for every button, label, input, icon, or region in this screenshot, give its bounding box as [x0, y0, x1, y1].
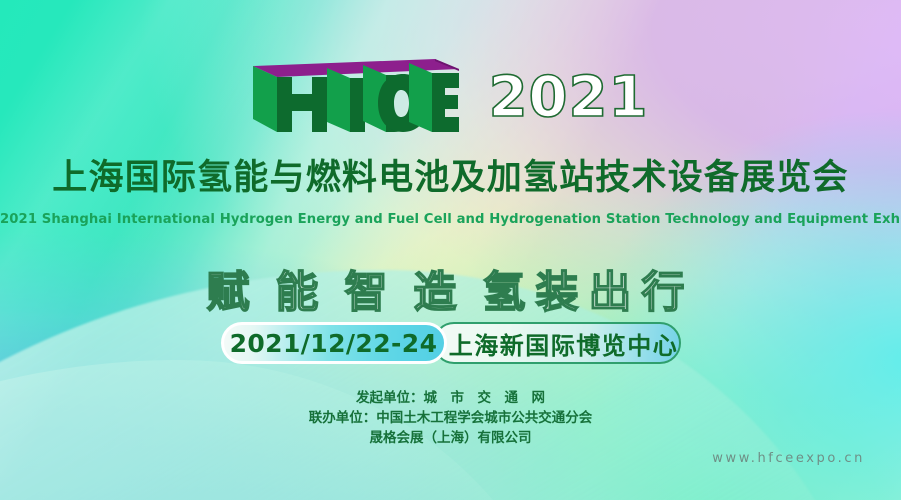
title-english: 2021 Shanghai International Hydrogen Ene… — [0, 212, 901, 227]
slogan: 赋能智造氢装出行 — [0, 258, 901, 320]
banner-content: 2021 上海国际氢能与燃料电池及加氢站技术设备展览会 2021 Shangha… — [0, 0, 901, 500]
website-url[interactable]: www.hfceexpo.cn — [712, 451, 865, 466]
organizer-block: 发起单位：城 市 交 通 网 联办单位：中国土木工程学会城市公共交通分会 晟格会… — [0, 388, 901, 448]
organizer-line-2: 联办单位：中国土木工程学会城市公共交通分会 — [0, 408, 901, 428]
expo-banner: 2021 上海国际氢能与燃料电池及加氢站技术设备展览会 2021 Shangha… — [0, 0, 901, 500]
venue-pill: 上海新国际博览中心 — [433, 322, 681, 364]
organizer-line-1: 发起单位：城 市 交 通 网 — [0, 388, 901, 408]
logo-row: 2021 — [0, 56, 901, 132]
pill-row: 2021/12/22-24 上海新国际博览中心 — [0, 322, 901, 364]
slogan-part-1: 赋能智造 — [207, 268, 483, 318]
slogan-part-2: 氢装出行 — [483, 268, 695, 318]
hfce-logo-mark — [253, 56, 459, 132]
date-pill: 2021/12/22-24 — [221, 322, 447, 364]
title-chinese: 上海国际氢能与燃料电池及加氢站技术设备展览会 — [0, 158, 901, 199]
organizer-line-3: 晟格会展（上海）有限公司 — [0, 428, 901, 448]
hfce-logo-svg — [253, 56, 459, 132]
logo-year: 2021 — [489, 70, 649, 126]
